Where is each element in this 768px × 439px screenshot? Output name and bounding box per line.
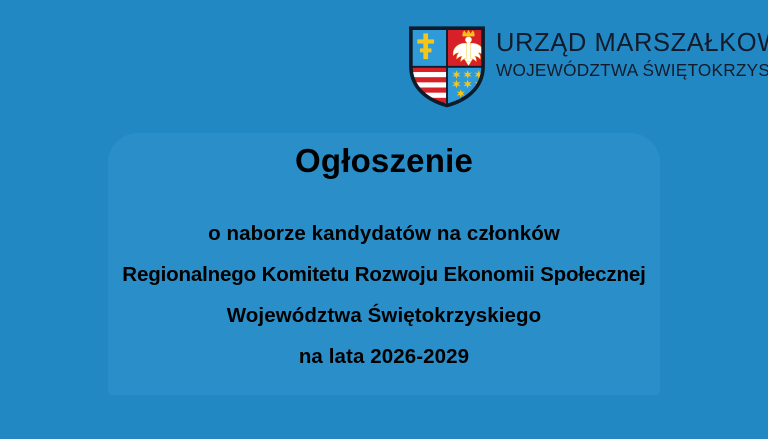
announcement-poster: URZĄD MARSZAŁKOWSKI WOJEWÓDZTWA ŚWIĘTOKR… [0, 0, 768, 439]
announcement-body-line-2: Regionalnego Komitetu Rozwoju Ekonomii S… [0, 254, 768, 295]
coat-of-arms-icon [404, 23, 490, 109]
wordmark-line-primary: URZĄD MARSZAŁKOWSKI [496, 31, 768, 57]
announcement-body-line-1: o naborze kandydatów na członków [0, 213, 768, 254]
announcement-body-line-3: Województwa Świętokrzyskiego [0, 295, 768, 336]
wordmark-line-secondary: WOJEWÓDZTWA ŚWIĘTOKRZYSKIEGO [496, 62, 768, 79]
announcement-body: o naborze kandydatów na członków Regiona… [0, 213, 768, 377]
institution-logo: URZĄD MARSZAŁKOWSKI WOJEWÓDZTWA ŚWIĘTOKR… [404, 23, 760, 109]
institution-wordmark: URZĄD MARSZAŁKOWSKI WOJEWÓDZTWA ŚWIĘTOKR… [496, 23, 768, 79]
announcement-body-line-4: na lata 2026-2029 [0, 336, 768, 377]
announcement-headline: Ogłoszenie [0, 143, 768, 179]
